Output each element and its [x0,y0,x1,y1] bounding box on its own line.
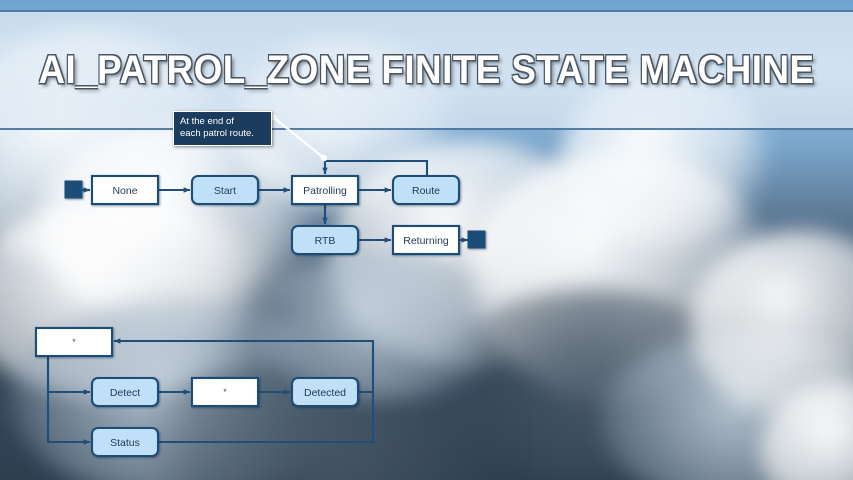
node-status-label: Status [110,437,140,449]
node-none-label: None [112,185,137,197]
node-any-state[interactable]: * [36,328,112,356]
node-detected-label: Detected [304,387,346,399]
node-returning[interactable]: Returning [393,226,459,254]
node-rtb[interactable]: RTB [292,226,358,254]
node-patrolling[interactable]: Patrolling [292,176,358,204]
node-detect[interactable]: Detect [92,378,158,406]
node-returning-label: Returning [403,235,449,247]
node-status[interactable]: Status [92,428,158,456]
node-patrolling-label: Patrolling [303,185,347,197]
callout-line-1: At the end of [180,116,265,128]
edge-route-to-patrolling-feedback [325,161,427,176]
state-machine-diagram: None Start Patrolling Route RTB Returnin… [0,0,853,480]
patrol-route-note[interactable]: At the end of each patrol route. [173,111,272,146]
edge-anystate-to-status [48,356,90,442]
node-detect-label: Detect [110,387,140,399]
node-route[interactable]: Route [393,176,459,204]
node-detected[interactable]: Detected [292,378,358,406]
end-terminator [468,231,485,248]
node-none[interactable]: None [92,176,158,204]
slide-canvas: AI_PATROL_ZONE FINITE STATE MACHINE [0,0,853,480]
node-rtb-label: RTB [315,235,336,247]
node-route-label: Route [412,185,440,197]
node-any-state-label: * [72,337,76,347]
node-any-event[interactable]: * [192,378,258,406]
callout-line-2: each patrol route. [180,128,265,140]
edge-anystate-to-detect [48,356,90,392]
node-start[interactable]: Start [192,176,258,204]
node-start-label: Start [214,185,236,197]
start-terminator [65,181,82,198]
node-any-event-label: * [223,387,227,397]
callout-leader-line [270,114,327,161]
